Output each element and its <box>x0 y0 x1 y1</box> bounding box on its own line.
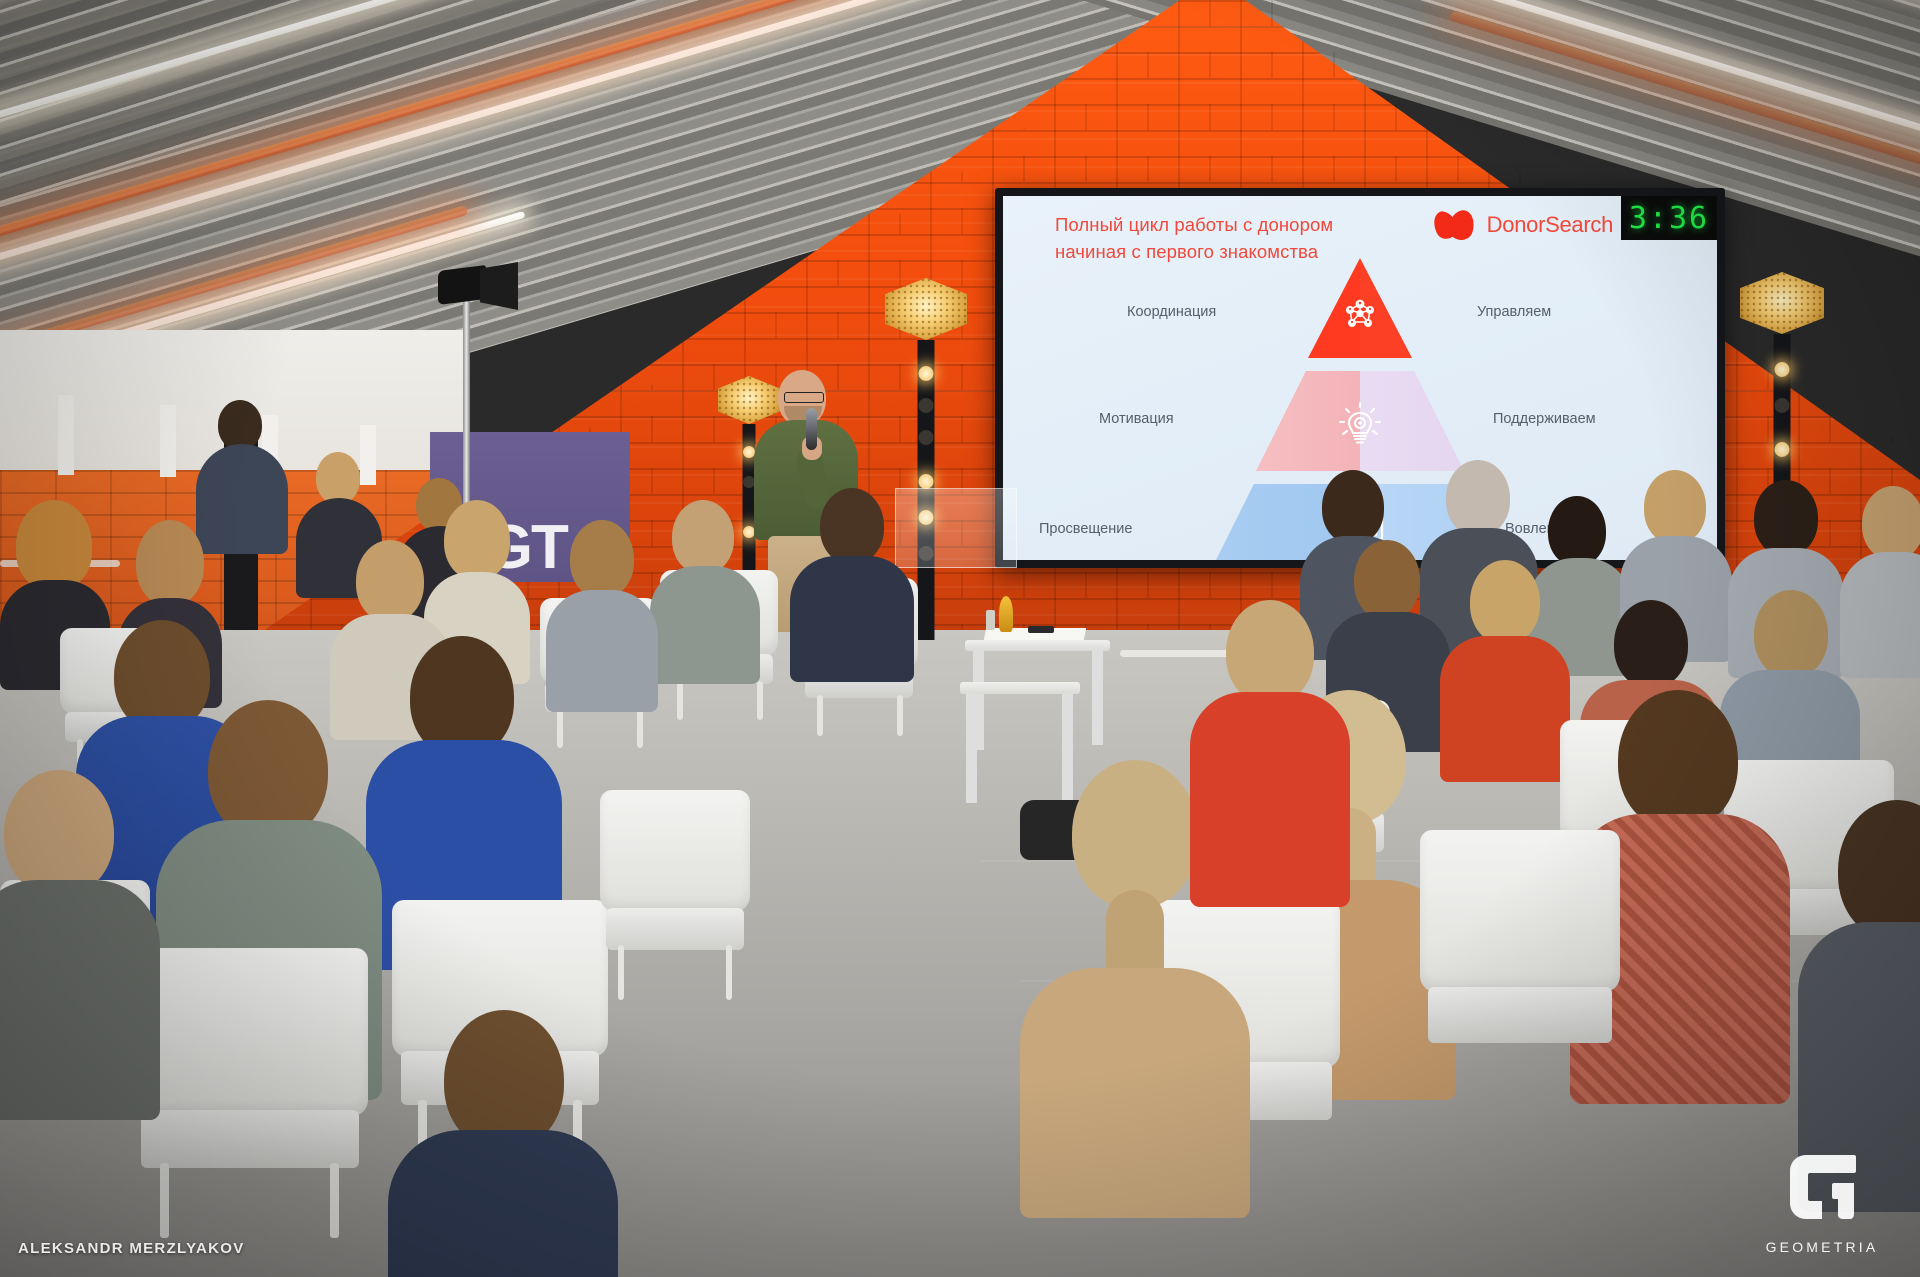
hex-lamp-right <box>1740 272 1824 334</box>
audience-member <box>1798 800 1920 1200</box>
photograph-scene: AGT Полный цикл работы с донором начиная… <box>0 0 1920 1277</box>
pyramid-label-prosveshchenie: Просвещение <box>1039 521 1132 537</box>
person-body <box>388 1130 618 1277</box>
person-head <box>672 500 734 574</box>
presenter-table-back <box>965 640 1110 651</box>
table-leg <box>966 693 977 803</box>
audience-member <box>0 770 160 1100</box>
person-head <box>444 500 510 580</box>
pyramid-label-upravlyaem: Управляем <box>1477 304 1551 320</box>
person-head <box>1548 496 1606 566</box>
audience-member <box>388 1010 618 1277</box>
geometria-g-icon <box>1776 1141 1868 1233</box>
person-head <box>1446 460 1510 536</box>
person-head <box>820 488 884 564</box>
person-head <box>1226 600 1314 704</box>
person-body <box>1440 636 1570 782</box>
lamp-bulb <box>919 366 934 381</box>
lightbulb-gear-icon <box>1338 401 1382 454</box>
lamp-bulb <box>1775 398 1790 413</box>
person-head <box>4 770 114 896</box>
lamp-bulb <box>919 398 934 413</box>
person-head <box>1614 600 1688 688</box>
person-body <box>1190 692 1350 907</box>
geometria-wordmark: GEOMETRIA <box>1766 1239 1879 1255</box>
small-bottle <box>986 610 995 630</box>
audience-member <box>650 500 760 670</box>
person-head <box>570 520 634 598</box>
pyramid-label-podderzhivaem: Поддерживаем <box>1493 411 1596 427</box>
wall-fin-1 <box>58 395 74 475</box>
gold-ornament <box>999 596 1013 632</box>
donorsearch-wordmark: DonorSearch <box>1487 212 1613 238</box>
audience-member <box>1190 600 1350 900</box>
spotlight-barndoor <box>480 262 518 310</box>
person-head <box>1354 540 1420 620</box>
chair <box>1420 830 1620 1110</box>
person-head <box>208 700 328 840</box>
hex-lamp-icon <box>1740 272 1824 334</box>
phone-on-table <box>1028 626 1054 633</box>
blood-drop-pair-icon <box>1434 210 1478 240</box>
person-body <box>1020 968 1250 1218</box>
lamp-bulb <box>919 474 934 489</box>
person-head <box>136 520 204 606</box>
donorsearch-logo: DonorSearch <box>1434 210 1613 240</box>
pyramid-label-koordinatsiya: Координация <box>1127 304 1216 320</box>
network-nodes-icon <box>1340 296 1380 341</box>
person-body <box>790 556 914 682</box>
person-head <box>1618 690 1738 830</box>
geometria-watermark: GEOMETRIA <box>1758 1141 1886 1255</box>
chair <box>132 948 368 1238</box>
table-leg <box>1092 650 1103 745</box>
slide-title-line-1: Полный цикл работы с донором <box>1055 212 1485 239</box>
chair <box>600 790 750 1000</box>
person-head <box>316 452 360 504</box>
wall-fin-2 <box>160 405 176 477</box>
microphone-icon <box>806 408 817 450</box>
person-head <box>1470 560 1540 644</box>
lamp-bulb <box>919 430 934 445</box>
speaker-glasses <box>784 392 824 403</box>
person-head <box>444 1010 564 1150</box>
lamp-bulb <box>1775 362 1790 377</box>
studio-light-head <box>438 262 516 308</box>
spotlight-icon <box>438 265 486 305</box>
timer-value: 3:36 <box>1629 201 1709 236</box>
person-head <box>218 400 262 450</box>
person-head <box>1838 800 1920 940</box>
person-body <box>650 566 760 684</box>
hex-lamp-center <box>885 278 967 340</box>
person-body <box>546 590 658 712</box>
audience-member <box>546 520 658 700</box>
countdown-timer: 3:36 <box>1621 196 1717 240</box>
person-head <box>356 540 424 622</box>
person-head <box>1644 470 1706 544</box>
hex-lamp-icon <box>885 278 967 340</box>
lamp-bulb <box>1775 442 1790 457</box>
audience-member <box>1440 560 1570 770</box>
person-head <box>16 500 92 590</box>
person-head <box>1322 470 1384 544</box>
photographer-credit: ALEKSANDR MERZLYAKOV <box>18 1240 245 1257</box>
pyramid-label-motivatsiya: Мотивация <box>1099 411 1174 427</box>
person-head <box>1754 480 1818 556</box>
person-head <box>1862 486 1920 560</box>
person-head <box>1754 590 1828 678</box>
audience-member <box>790 488 914 668</box>
person-head <box>1072 760 1198 908</box>
person-body <box>0 880 160 1120</box>
